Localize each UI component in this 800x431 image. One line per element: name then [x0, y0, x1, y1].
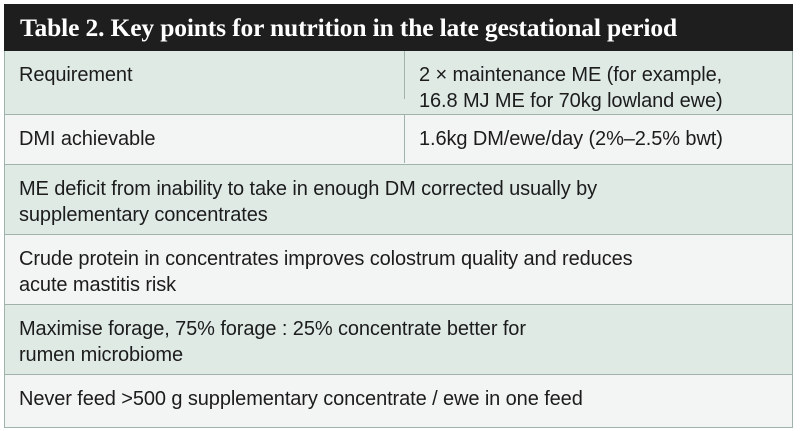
row-value-line-1: 1.6kg DM/ewe/day (2%–2.5% bwt) — [419, 126, 778, 152]
table-row: Requirement 2 × maintenance ME (for exam… — [5, 51, 792, 115]
table-caption-bar: Table 2. Key points for nutrition in the… — [4, 4, 793, 51]
row-label-dmi-achievable: DMI achievable — [5, 115, 405, 163]
row-text-line-1: Maximise forage, 75% forage : 25% concen… — [19, 316, 772, 342]
row-text-line-2: rumen microbiome — [19, 342, 772, 368]
table-row: Never feed >500 g supplementary concentr… — [5, 375, 792, 427]
row-text-crude-protein: Crude protein in concentrates improves c… — [5, 235, 792, 309]
table-body: Requirement 2 × maintenance ME (for exam… — [4, 51, 793, 428]
table-row: Crude protein in concentrates improves c… — [5, 235, 792, 305]
row-text-line-1: Never feed >500 g supplementary concentr… — [19, 386, 772, 412]
row-value-line-2: 16.8 MJ ME for 70kg lowland ewe) — [419, 88, 778, 114]
table-row: ME deficit from inability to take in eno… — [5, 165, 792, 235]
row-value-line-1: 2 × maintenance ME (for example, — [419, 62, 778, 88]
row-text-line-2: acute mastitis risk — [19, 272, 772, 298]
row-text-me-deficit: ME deficit from inability to take in eno… — [5, 165, 792, 239]
table-row: DMI achievable 1.6kg DM/ewe/day (2%–2.5%… — [5, 115, 792, 165]
row-text-maximise-forage: Maximise forage, 75% forage : 25% concen… — [5, 305, 792, 379]
row-value-dmi-achievable: 1.6kg DM/ewe/day (2%–2.5% bwt) — [405, 115, 792, 163]
row-value-requirement: 2 × maintenance ME (for example, 16.8 MJ… — [405, 51, 792, 125]
row-text-line-1: ME deficit from inability to take in eno… — [19, 176, 772, 202]
table-caption-text: Table 2. Key points for nutrition in the… — [20, 15, 677, 41]
table-figure: Table 2. Key points for nutrition in the… — [4, 4, 793, 424]
row-text-line-2: supplementary concentrates — [19, 202, 772, 228]
row-text-never-feed: Never feed >500 g supplementary concentr… — [5, 375, 792, 423]
row-label-requirement: Requirement — [5, 51, 405, 99]
row-text-line-1: Crude protein in concentrates improves c… — [19, 246, 772, 272]
table-row: Maximise forage, 75% forage : 25% concen… — [5, 305, 792, 375]
